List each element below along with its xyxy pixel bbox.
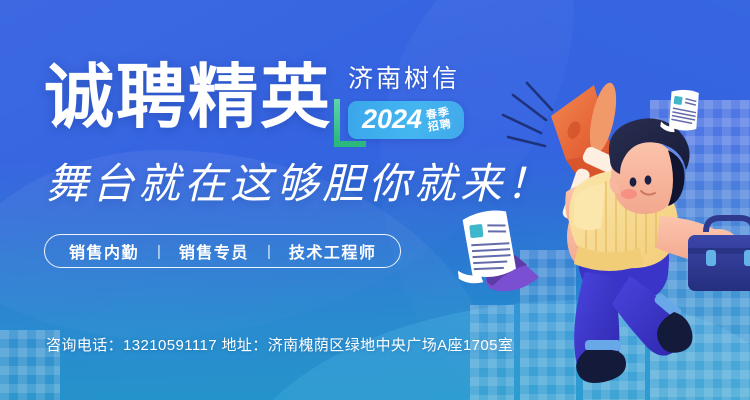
job-separator: | xyxy=(157,243,161,260)
job-position-3: 技术工程师 xyxy=(289,239,377,263)
recruitment-banner: 诚聘精英 济南树信 2024 春季 招聘 舞台就在这够胆你就来！ 销售内勤 | … xyxy=(0,0,750,400)
resume-document-icon xyxy=(452,209,517,285)
job-positions-pill: 销售内勤 | 销售专员 | 技术工程师 xyxy=(44,234,401,268)
sound-lines-icon xyxy=(503,83,552,146)
page-title: 诚聘精英 xyxy=(44,58,332,136)
brand-stack: 济南树信 2024 春季 招聘 xyxy=(348,58,464,139)
job-separator: | xyxy=(267,243,271,260)
building-silhouette xyxy=(520,250,576,400)
badge-season: 春季 招聘 xyxy=(425,106,452,133)
green-hook-accent xyxy=(334,99,366,147)
company-name: 济南树信 xyxy=(348,64,460,94)
badge-year: 2024 xyxy=(362,105,422,134)
subtitle: 舞台就在这够胆你就来！ xyxy=(46,158,552,210)
job-position-1: 销售内勤 xyxy=(69,239,139,263)
building-silhouette xyxy=(650,100,750,400)
building-silhouette xyxy=(583,165,645,400)
year-badge: 2024 春季 招聘 xyxy=(348,101,464,139)
contact-info: 咨询电话：13210591117 地址：济南槐荫区绿地中央广场A座1705室 xyxy=(46,336,513,356)
headline-row: 诚聘精英 济南树信 2024 春季 招聘 xyxy=(44,58,464,139)
job-position-2: 销售专员 xyxy=(179,239,249,263)
